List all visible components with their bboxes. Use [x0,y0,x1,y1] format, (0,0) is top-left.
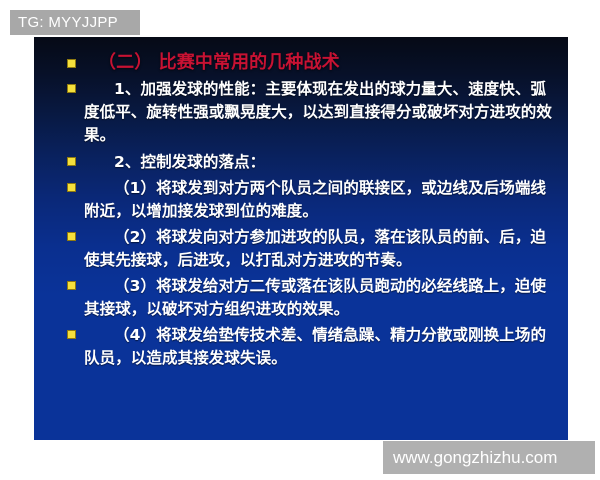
list-item-text: （2）将球发向对方参加进攻的队员，落在该队员的前、后，迫使其先接球，后进攻，以打… [84,226,560,272]
watermark-url: www.gongzhizhu.com [383,441,595,474]
bullet-square-icon [67,59,76,68]
list-item: （4）将球发给垫传技术差、情绪急躁、精力分散或刚换上场的队员，以造成其接发球失误… [34,324,568,370]
list-item: （1）将球发到对方两个队员之间的联接区，或边线及后场端线附近，以增加接发球到位的… [34,177,568,223]
list-item-text: （1）将球发到对方两个队员之间的联接区，或边线及后场端线附近，以增加接发球到位的… [84,177,560,223]
bullet-square-icon [67,183,76,192]
list-item: （2）将球发向对方参加进攻的队员，落在该队员的前、后，迫使其先接球，后进攻，以打… [34,226,568,272]
list-item-text: 2、控制发球的落点： [84,151,560,174]
bullet-square-icon [67,84,76,93]
list-item-text: 1、加强发球的性能：主要体现在发出的球力量大、速度快、弧度低平、旋转性强或飘晃度… [84,78,560,147]
bullet-square-icon [67,232,76,241]
list-item: （3）将球发给对方二传或落在该队员跑动的必经线路上，迫使其接球，以破坏对方组织进… [34,275,568,321]
slide-content-area: （二） 比赛中常用的几种战术 1、加强发球的性能：主要体现在发出的球力量大、速度… [34,37,568,440]
bullet-square-icon [67,157,76,166]
list-item-text: （3）将球发给对方二传或落在该队员跑动的必经线路上，迫使其接球，以破坏对方组织进… [84,275,560,321]
list-item: 1、加强发球的性能：主要体现在发出的球力量大、速度快、弧度低平、旋转性强或飘晃度… [34,78,568,147]
source-tag-badge: TG: MYYJJPP [10,10,140,35]
list-item-text: （4）将球发给垫传技术差、情绪急躁、精力分散或刚换上场的队员，以造成其接发球失误… [84,324,560,370]
page-title: （二） 比赛中常用的几种战术 [84,51,560,75]
bullet-square-icon [67,330,76,339]
list-item: 2、控制发球的落点： [34,151,568,174]
slide-title-row: （二） 比赛中常用的几种战术 [34,51,568,75]
presentation-slide: （二） 比赛中常用的几种战术 1、加强发球的性能：主要体现在发出的球力量大、速度… [34,37,568,440]
bullet-square-icon [67,281,76,290]
